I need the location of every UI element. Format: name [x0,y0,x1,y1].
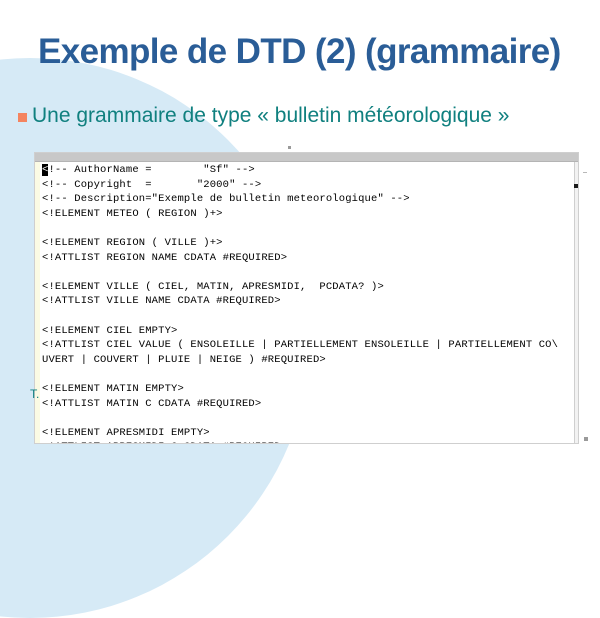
code-selection-caret: < [42,164,48,176]
code-line: <!ATTLIST CIEL VALUE ( ENSOLEILLE | PART… [42,338,578,353]
code-editor-scroll-thumb[interactable] [574,184,578,188]
code-line: <!ELEMENT CIEL EMPTY> [42,324,578,339]
code-line [42,411,578,426]
code-line: <!ELEMENT MATIN EMPTY> [42,382,578,397]
code-line: <!ATTLIST MATIN C CDATA #REQUIRED> [42,397,578,412]
code-line: <!ELEMENT REGION ( VILLE )+> [42,236,578,251]
bullet-marker-icon [18,113,27,122]
code-line [42,221,578,236]
bullet-item-label: Une grammaire de type « bulletin météoro… [32,104,509,127]
code-line: <!ELEMENT VILLE ( CIEL, MATIN, APRESMIDI… [42,280,578,295]
code-line: <!ATTLIST APRESMIDI C CDATA #REQUIRED> [42,440,578,443]
stray-text-artifact: T. [30,387,39,401]
code-line: <!ATTLIST VILLE NAME CDATA #REQUIRED> [42,294,578,309]
code-line: <!-- Description="Exemple de bulletin me… [42,192,578,207]
object-handle-bottom-right [584,437,588,441]
code-line: <!-- AuthorName = "Sf" --> [42,163,578,178]
code-line: UVERT | COUVERT | PLUIE | NEIGE ) #REQUI… [42,353,578,368]
code-editor-scrollbar[interactable] [574,162,578,443]
object-handle-right [583,172,587,173]
code-line [42,309,578,324]
bullet-list-item: Une grammaire de type « bulletin météoro… [18,104,509,127]
code-editor-text[interactable]: <!-- AuthorName = "Sf" --><!-- Copyright… [40,162,578,443]
code-line [42,265,578,280]
code-line: <!ATTLIST REGION NAME CDATA #REQUIRED> [42,251,578,266]
page-title: Exemple de DTD (2) (grammaire) [38,34,578,71]
code-line: <!ELEMENT APRESMIDI EMPTY> [42,426,578,441]
code-editor-body[interactable]: <!-- AuthorName = "Sf" --><!-- Copyright… [35,162,578,443]
code-line [42,367,578,382]
code-line: <!ELEMENT METEO ( REGION )+> [42,207,578,222]
object-handle-top [288,146,291,149]
code-line: <!-- Copyright = "2000" --> [42,178,578,193]
code-editor-toolbar[interactable] [35,153,578,162]
embedded-code-editor-object[interactable]: <!-- AuthorName = "Sf" --><!-- Copyright… [34,152,579,444]
